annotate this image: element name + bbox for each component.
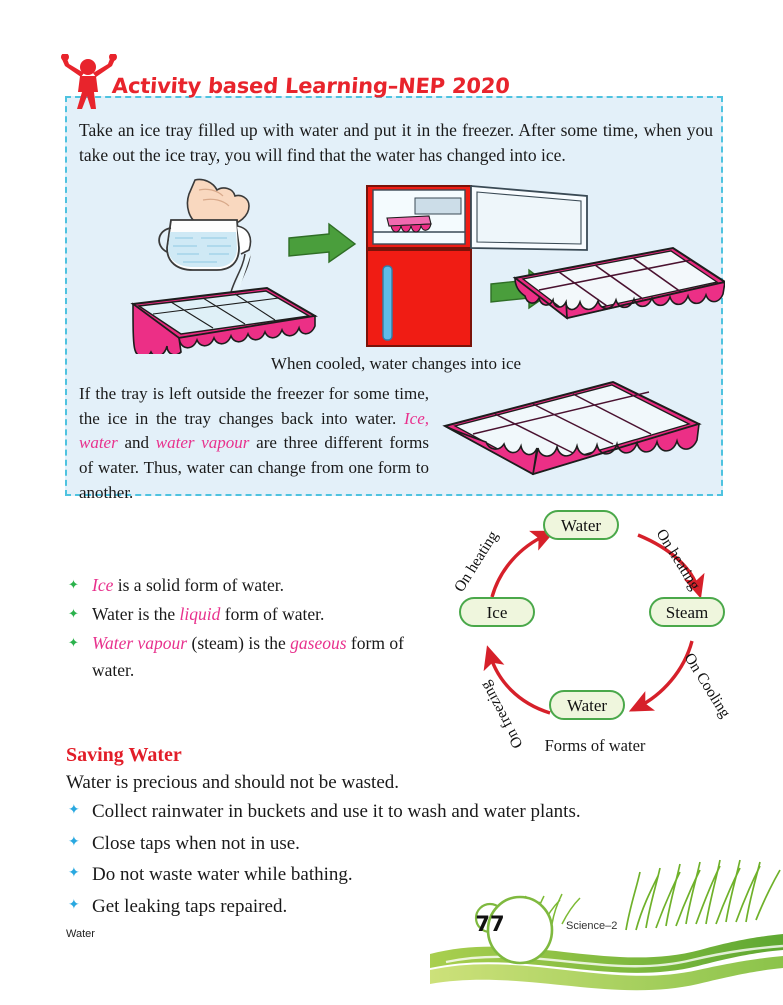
edge-label-on-cooling: On Cooling — [681, 650, 734, 721]
forms-item-2-mid: (steam) is the — [187, 633, 290, 653]
forms-item-1-rest: form of water. — [220, 604, 324, 624]
diamond-bullet-icon: ✦ — [68, 863, 80, 884]
saving-item-0: Collect rainwater in buckets and use it … — [92, 801, 581, 822]
forms-item-2-em2: gaseous — [290, 633, 346, 653]
activity-illustration — [67, 176, 725, 354]
cycle-diagram-caption: Forms of water — [440, 736, 750, 756]
diamond-bullet-icon: ✦ — [68, 800, 80, 821]
edge-label-on-heating-left: On heating — [451, 528, 502, 595]
diamond-bullet-icon: ✦ — [68, 575, 79, 595]
child-figure-icon — [60, 54, 118, 110]
saving-water-intro: Water is precious and should not be wast… — [66, 772, 399, 794]
forms-item-2-em: Water vapour — [92, 633, 187, 653]
refrigerator-icon — [367, 186, 587, 346]
activity-title: Activity based Learning–NEP 2020 — [111, 74, 510, 98]
lower-text-em2: water vapour — [156, 433, 250, 452]
activity-panel: Take an ice tray filled up with water an… — [65, 96, 723, 496]
lower-text-mid: and — [118, 433, 156, 452]
page-number: 77 — [468, 912, 512, 936]
ice-tray-icon — [133, 288, 315, 354]
lower-text-part1: If the tray is left outside the freezer … — [79, 384, 429, 428]
list-item: ✦ Water vapour (steam) is the gaseous fo… — [68, 630, 428, 684]
book-label: Science–2 — [566, 920, 617, 932]
ice-tray-illustration-lower — [437, 366, 717, 486]
saving-water-heading: Saving Water — [66, 744, 182, 767]
node-ice: Ice — [460, 598, 534, 626]
footer-chapter-label: Water — [66, 928, 95, 940]
saving-item-3: Get leaking taps repaired. — [92, 896, 287, 917]
list-item: ✦ Collect rainwater in buckets and use i… — [66, 798, 706, 827]
forms-item-1-pre: Water is the — [92, 604, 180, 624]
arrow-steam-to-water — [638, 641, 692, 707]
forms-of-water-list: ✦ Ice is a solid form of water. ✦ Water … — [68, 572, 428, 687]
water-forms-cycle-diagram: Water Steam Water Ice On heating On Cool… — [440, 505, 750, 765]
list-item: ✦ Close taps when not in use. — [66, 830, 706, 859]
arrow-ice-to-water — [492, 535, 546, 597]
diamond-bullet-icon: ✦ — [68, 633, 79, 653]
list-item: ✦ Ice is a solid form of water. — [68, 572, 428, 599]
node-steam: Steam — [650, 598, 724, 626]
svg-text:Ice: Ice — [487, 603, 508, 622]
activity-intro-text: Take an ice tray filled up with water an… — [79, 118, 713, 168]
saving-item-1: Close taps when not in use. — [92, 833, 300, 854]
svg-text:Steam: Steam — [666, 603, 709, 622]
forms-item-0-em: Ice — [92, 575, 113, 595]
diamond-bullet-icon: ✦ — [68, 604, 79, 624]
node-water-top: Water — [544, 511, 618, 539]
svg-text:Water: Water — [561, 516, 601, 535]
saving-item-2: Do not waste water while bathing. — [92, 864, 353, 885]
green-arrow-icon — [289, 224, 355, 262]
diamond-bullet-icon: ✦ — [68, 832, 80, 853]
forms-item-1-em: liquid — [180, 604, 221, 624]
list-item: ✦ Water is the liquid form of water. — [68, 601, 428, 628]
svg-text:Water: Water — [567, 696, 607, 715]
frozen-ice-tray-icon — [515, 248, 725, 318]
activity-panel-header: Activity based Learning–NEP 2020 — [60, 60, 480, 106]
forms-item-0-rest: is a solid form of water. — [113, 575, 284, 595]
activity-lower-text: If the tray is left outside the freezer … — [79, 382, 429, 505]
edge-label-on-heating-right: On heating — [653, 526, 704, 593]
node-water-bottom: Water — [550, 691, 624, 719]
diamond-bullet-icon: ✦ — [68, 895, 80, 916]
